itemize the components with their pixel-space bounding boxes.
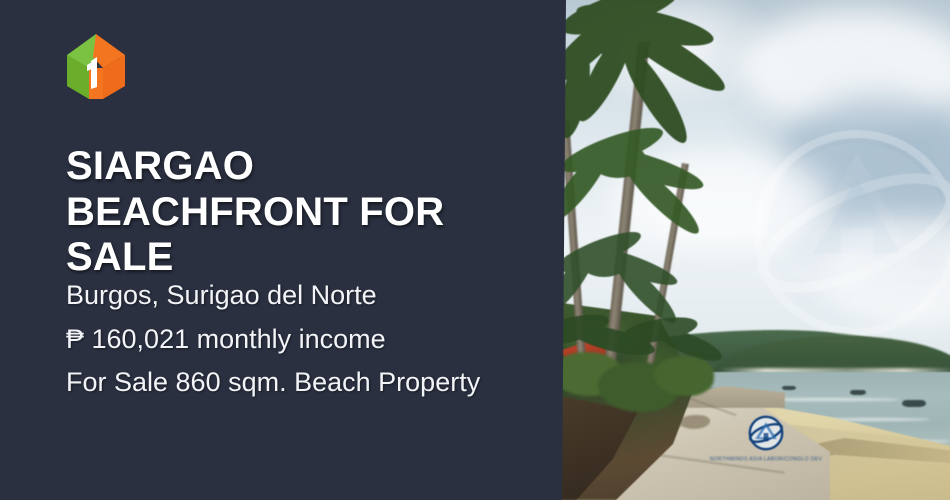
house-one-logo-icon	[63, 31, 129, 103]
property-photo: NORTHMINDS ASIA LABOR/CONGLO DEV	[550, 0, 950, 500]
info-panel: SIARGAO BEACHFRONT FOR SALE Burgos, Suri…	[0, 0, 570, 500]
shrub	[654, 356, 714, 396]
detail-size: For Sale 860 sqm. Beach Property	[66, 361, 546, 405]
page-title: SIARGAO BEACHFRONT FOR SALE	[66, 144, 536, 281]
photo-scene: NORTHMINDS ASIA LABOR/CONGLO DEV	[550, 0, 950, 500]
detail-location: Burgos, Surigao del Norte	[66, 274, 546, 318]
palm-foliage	[550, 0, 950, 500]
detail-income: ₱ 160,021 monthly income	[66, 318, 546, 362]
property-listing-card: NORTHMINDS ASIA LABOR/CONGLO DEV SIARGAO…	[0, 0, 950, 500]
listing-details: Burgos, Surigao del Norte ₱ 160,021 mont…	[66, 274, 546, 405]
